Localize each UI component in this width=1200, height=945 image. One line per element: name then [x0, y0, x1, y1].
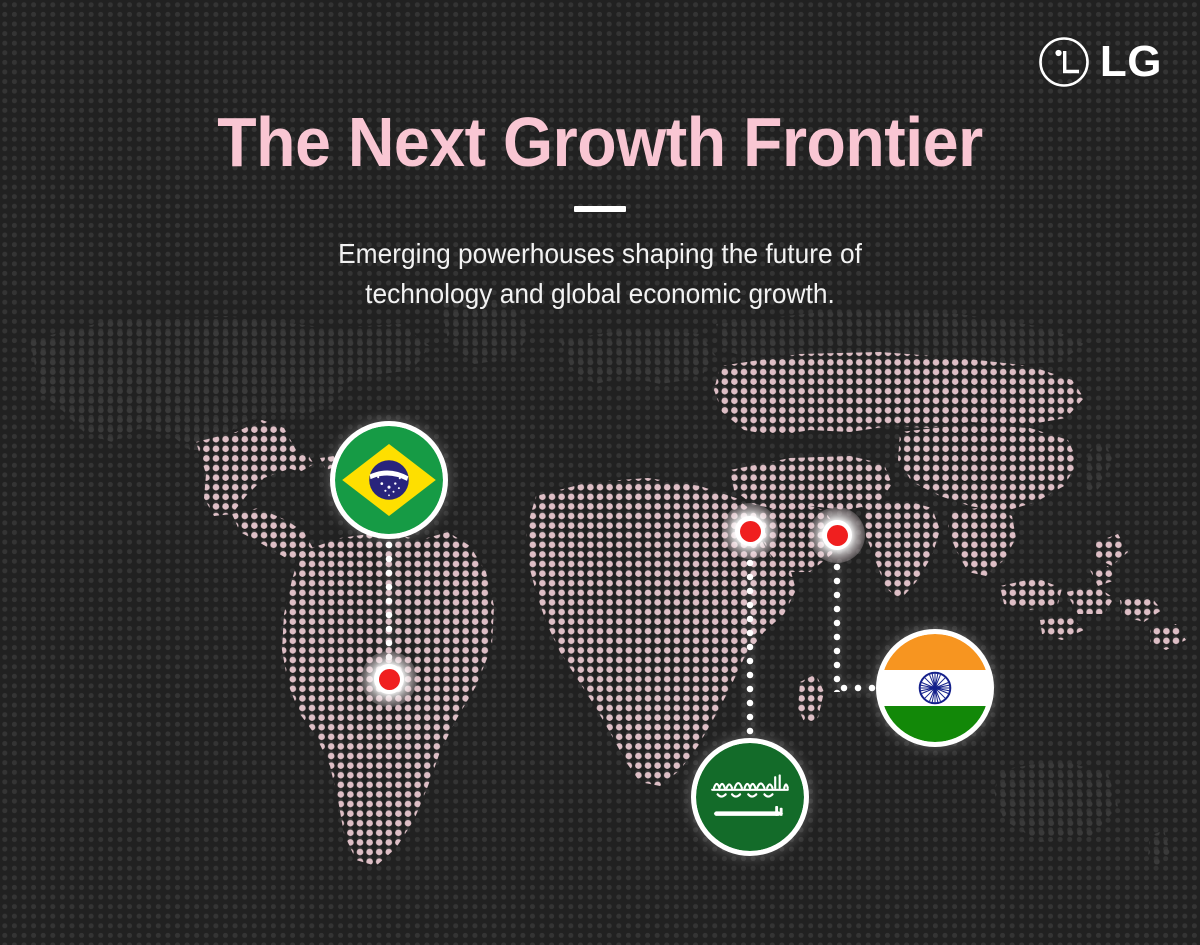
- map-pin-saudi-arabia[interactable]: [722, 503, 778, 559]
- lg-logo: LG: [1038, 36, 1162, 88]
- pin-dot: [827, 525, 848, 546]
- lg-wordmark: LG: [1100, 40, 1162, 84]
- flag-badge-brazil[interactable]: [330, 421, 448, 539]
- title-divider: [574, 206, 626, 212]
- connector-brazil: [385, 538, 393, 666]
- page-title: The Next Growth Frontier: [48, 106, 1152, 180]
- flag-saudi-arabia-icon: [696, 743, 804, 851]
- world-map: [0, 300, 1200, 900]
- pin-dot: [740, 521, 761, 542]
- page-subtitle: Emerging powerhouses shaping the future …: [36, 234, 1164, 314]
- subtitle-line-1: Emerging powerhouses shaping the future …: [36, 234, 1164, 274]
- flag-badge-saudi-arabia[interactable]: [691, 738, 809, 856]
- flag-brazil-icon: [335, 426, 443, 534]
- subtitle-line-2: technology and global economic growth.: [36, 274, 1164, 314]
- flag-india-icon: [881, 634, 989, 742]
- infographic-canvas: LG The Next Growth Frontier Emerging pow…: [0, 0, 1200, 945]
- map-pin-india[interactable]: [809, 507, 865, 563]
- world-map-dots: [0, 300, 1200, 900]
- lg-circle-face-logo-icon: [1038, 36, 1090, 88]
- map-landmass-dim: [30, 300, 1170, 868]
- connector-india-vertical: [833, 560, 841, 692]
- pin-dot: [379, 669, 400, 690]
- connector-saudi-arabia: [746, 556, 754, 738]
- flag-badge-india[interactable]: [876, 629, 994, 747]
- map-pin-brazil[interactable]: [361, 651, 417, 707]
